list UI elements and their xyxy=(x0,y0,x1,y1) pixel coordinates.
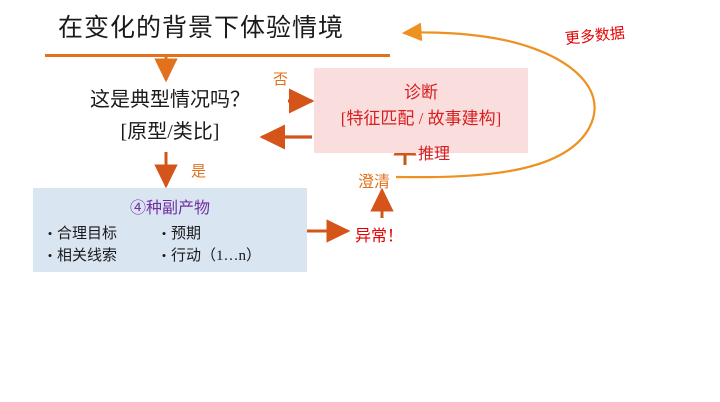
decision-subtitle: [原型/类比] xyxy=(55,119,285,146)
list-item: • 相关线索 • 行动（1…n） xyxy=(43,244,307,265)
bullet-icon: • xyxy=(157,226,171,242)
diagnosis-detail: [特征匹配 / 故事建构] xyxy=(314,104,528,129)
diagnosis-heading: 诊断 xyxy=(314,78,528,103)
edge-label-more-data: 更多数据 xyxy=(564,22,626,49)
bullet-icon: • xyxy=(43,248,57,264)
edge-label-clarify: 澄清 xyxy=(358,168,390,192)
byproducts-cell-right: 预期 xyxy=(171,222,201,243)
byproducts-cell-right: 行动（1…n） xyxy=(171,244,261,265)
byproducts-cell-left: 合理目标 xyxy=(57,222,157,243)
edge-label-inference: 推理 xyxy=(418,140,450,164)
list-item: • 合理目标 • 预期 xyxy=(43,222,307,243)
anomaly-label: 异常！ xyxy=(355,222,403,246)
edge-label-yes: 是 xyxy=(191,160,206,181)
byproducts-heading: ④种副产物 xyxy=(33,194,307,218)
decision-question: 这是典型情况吗？ xyxy=(55,87,285,114)
byproducts-cell-left: 相关线索 xyxy=(57,244,157,265)
title-underline xyxy=(45,54,390,57)
page-title: 在变化的背景下体验情境 xyxy=(58,12,398,46)
edge-label-no: 否 xyxy=(273,68,288,89)
byproducts-box: ④种副产物 • 合理目标 • 预期 • 相关线索 • 行动（1…n） xyxy=(33,188,307,272)
diagram-canvas: 在变化的背景下体验情境 这是典型情况吗？ [原型/类比] 诊断 [特征匹配 / … xyxy=(0,0,720,402)
bullet-icon: • xyxy=(43,226,57,242)
bullet-icon: • xyxy=(157,248,171,264)
